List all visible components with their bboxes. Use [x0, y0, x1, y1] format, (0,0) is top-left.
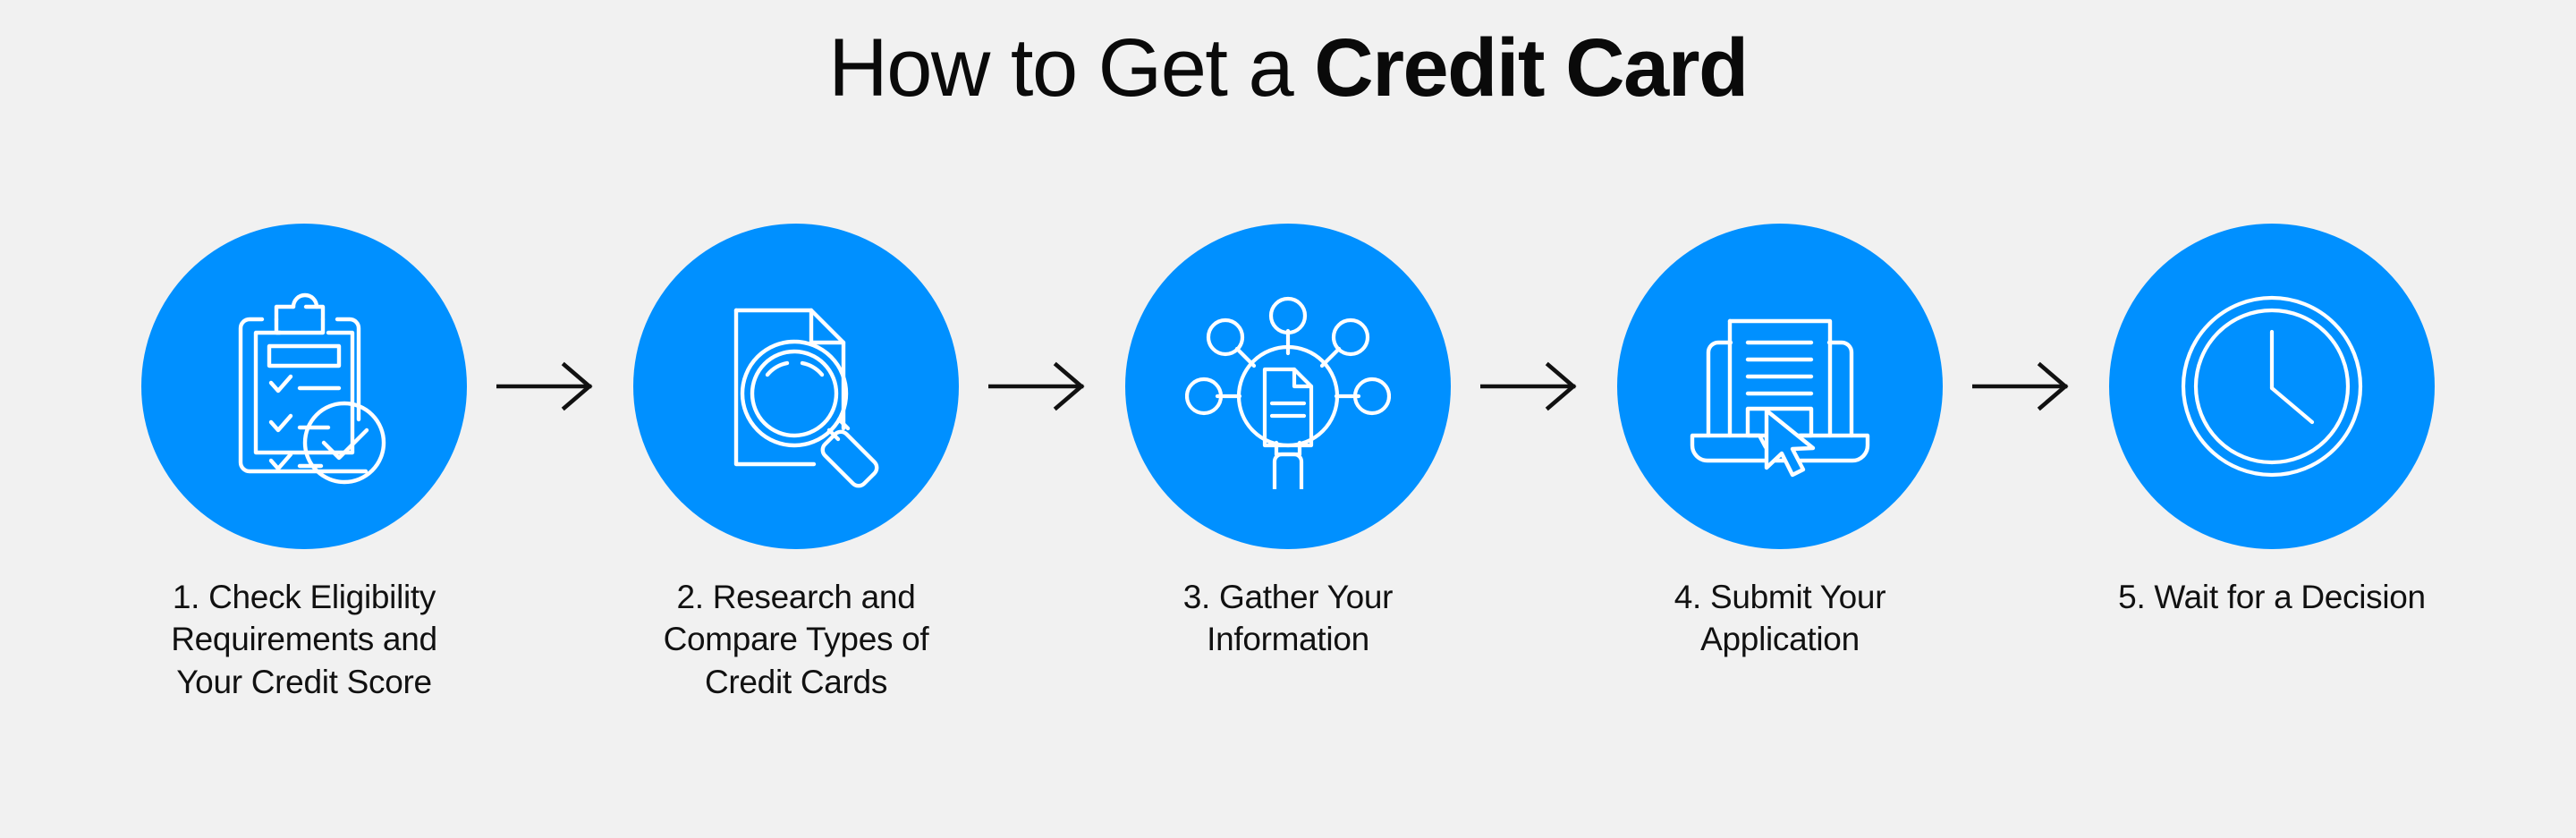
arrow-step-1-to-2	[479, 224, 622, 549]
page-title-light: How to Get a	[828, 22, 1314, 114]
step-3-caption: 3. Gather Your Information	[1118, 576, 1458, 661]
infographic-root: How to Get a Credit Card	[0, 0, 2576, 838]
step-1: 1. Check Eligibility Requirements and Yo…	[130, 224, 479, 703]
step-4-icon-circle	[1617, 224, 1943, 549]
laptop-form-cursor-icon	[1677, 284, 1883, 489]
network-document-search-icon	[1185, 284, 1391, 489]
step-5-icon-circle	[2109, 224, 2435, 549]
step-4: 4. Submit Your Application	[1606, 224, 1954, 661]
arrow-right-icon	[496, 360, 604, 413]
arrow-right-icon	[1480, 360, 1588, 413]
step-5: 5. Wait for a Decision	[2097, 224, 2446, 618]
page-title: How to Get a Credit Card	[0, 27, 2576, 109]
document-magnifier-icon	[693, 284, 899, 489]
clock-icon	[2169, 284, 2375, 489]
arrow-right-icon	[1972, 360, 2080, 413]
arrow-right-icon	[988, 360, 1096, 413]
clipboard-checklist-icon	[201, 284, 407, 489]
arrow-step-4-to-5	[1954, 224, 2097, 549]
step-1-caption: 1. Check Eligibility Requirements and Yo…	[134, 576, 474, 703]
step-4-caption: 4. Submit Your Application	[1610, 576, 1950, 661]
step-2-caption: 2. Research and Compare Types of Credit …	[626, 576, 966, 703]
step-5-caption: 5. Wait for a Decision	[2118, 576, 2426, 618]
step-2: 2. Research and Compare Types of Credit …	[622, 224, 970, 703]
step-1-icon-circle	[141, 224, 467, 549]
page-title-bold: Credit Card	[1314, 22, 1747, 114]
arrow-step-3-to-4	[1462, 224, 1606, 549]
step-3: 3. Gather Your Information	[1114, 224, 1462, 661]
steps-row: 1. Check Eligibility Requirements and Yo…	[0, 224, 2576, 703]
arrow-step-2-to-3	[970, 224, 1114, 549]
step-2-icon-circle	[633, 224, 959, 549]
step-3-icon-circle	[1125, 224, 1451, 549]
